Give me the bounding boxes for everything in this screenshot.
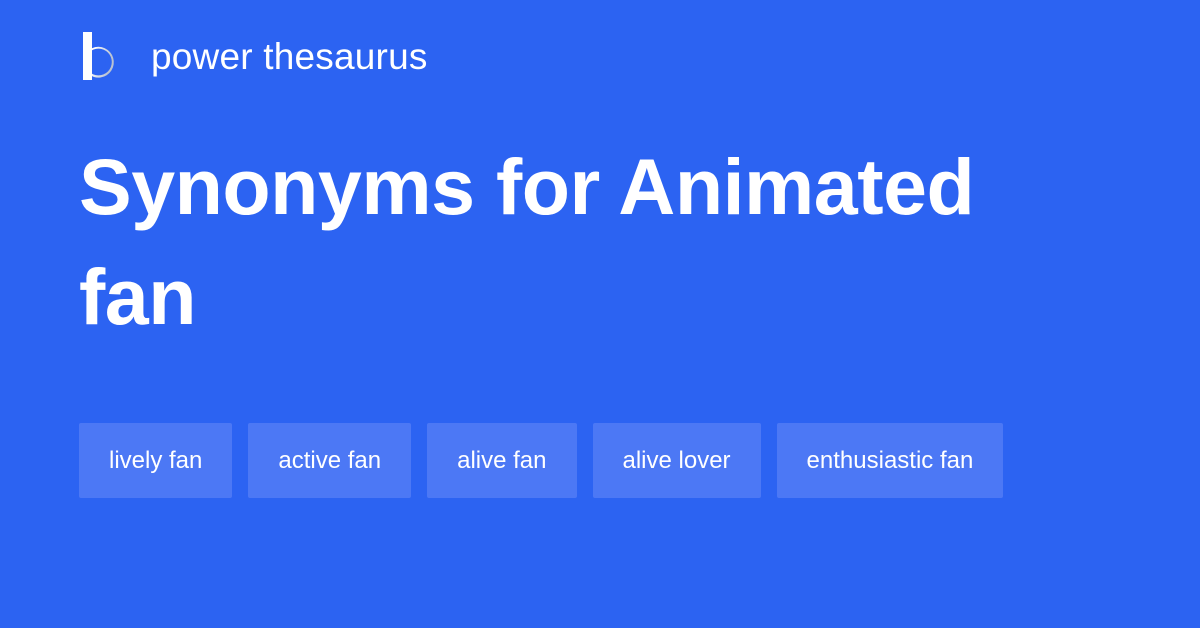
synonym-chip[interactable]: alive lover (593, 423, 761, 498)
synonym-chip-list: lively fan active fan alive fan alive lo… (79, 423, 1079, 498)
brand-name: power thesaurus (151, 38, 428, 75)
synonym-chip[interactable]: active fan (248, 423, 411, 498)
synonym-chip[interactable]: alive fan (427, 423, 576, 498)
synonym-chip-label: lively fan (109, 449, 202, 473)
synonym-chip-label: enthusiastic fan (807, 449, 974, 473)
synonym-chip-label: alive lover (623, 449, 731, 473)
synonym-chip-label: alive fan (457, 449, 546, 473)
synonym-chip[interactable]: lively fan (79, 423, 232, 498)
power-thesaurus-b-logo-icon (79, 32, 127, 80)
synonym-chip-label: active fan (278, 449, 381, 473)
brand-logo[interactable]: power thesaurus (79, 28, 428, 84)
page-title: Synonyms for Animated fan (79, 132, 1039, 352)
synonym-chip[interactable]: enthusiastic fan (777, 423, 1004, 498)
share-card: power thesaurus Synonyms for Animated fa… (0, 0, 1200, 628)
